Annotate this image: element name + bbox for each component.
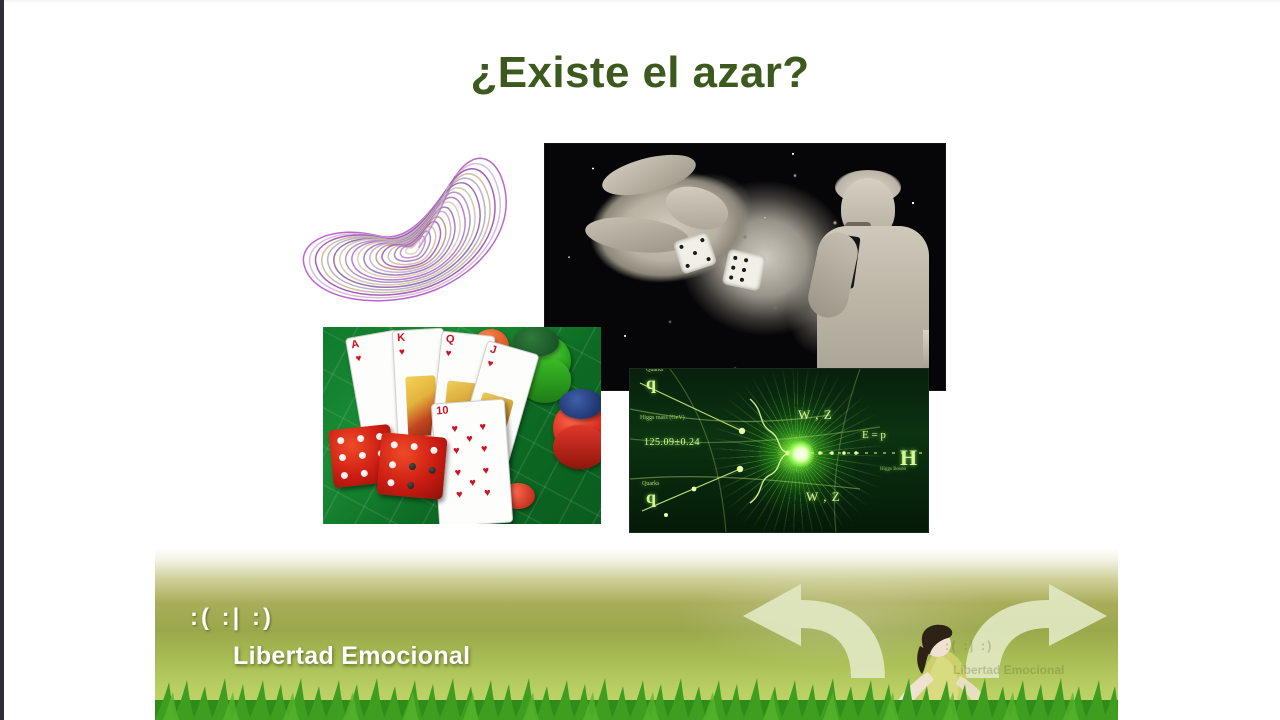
brand-watermark: :( :| :) Libertad Emocional bbox=[945, 638, 1064, 677]
grass-svg bbox=[155, 674, 1118, 720]
card-rank-suit: Q bbox=[445, 334, 455, 346]
particle-physics-image: Quarks q Quarks q W , Z W , Z E = p H 12… bbox=[630, 369, 928, 532]
card-rank-suit: A bbox=[350, 339, 360, 352]
brand-name: Libertad Emocional bbox=[233, 642, 470, 671]
chaos-attractor-image bbox=[287, 150, 540, 330]
attractor-graphic bbox=[287, 150, 540, 330]
chip-blue bbox=[559, 389, 601, 419]
collision-core bbox=[788, 441, 814, 467]
higgs-boson-caption: Higgs Boson bbox=[880, 467, 906, 472]
card-rank-suit: K bbox=[397, 333, 406, 345]
card-rank-suit: J bbox=[488, 344, 497, 357]
feynman-diagram-lines bbox=[630, 369, 928, 532]
grass-strip bbox=[155, 674, 1118, 720]
die-two bbox=[722, 248, 767, 291]
watermark-text: Libertad Emocional bbox=[953, 663, 1064, 677]
higgs-mass-value: 125.09±0.24 bbox=[644, 437, 700, 448]
chip-red-stack bbox=[553, 425, 601, 469]
watermark-emoticons: :( :| :) bbox=[945, 638, 1064, 653]
higgs-mass-caption: Higgs mass (GeV) bbox=[640, 415, 685, 421]
boson-label-bottom: W , Z bbox=[806, 489, 841, 505]
brand-emoticons: :( :| :) bbox=[190, 604, 274, 632]
energy-equation-label: E = p bbox=[862, 429, 886, 441]
image-collage: A ♥ K ♥ Q ♥ J ♥ 10 ♥ ♥ bbox=[0, 0, 1280, 545]
quark-symbol-bottom: q bbox=[646, 487, 656, 508]
boson-label-top: W , Z bbox=[798, 407, 833, 423]
casino-gambling-image: A ♥ K ♥ Q ♥ J ♥ 10 ♥ ♥ bbox=[323, 327, 601, 524]
quark-symbol-top: q bbox=[646, 373, 656, 394]
casino-die-two bbox=[376, 432, 447, 500]
slide-canvas: ¿Existe el azar? bbox=[0, 0, 1280, 720]
einstein-dice-image bbox=[545, 144, 945, 390]
footer-banner: :( :| :) Libertad Emocional :( :| :) Lib… bbox=[155, 548, 1118, 720]
